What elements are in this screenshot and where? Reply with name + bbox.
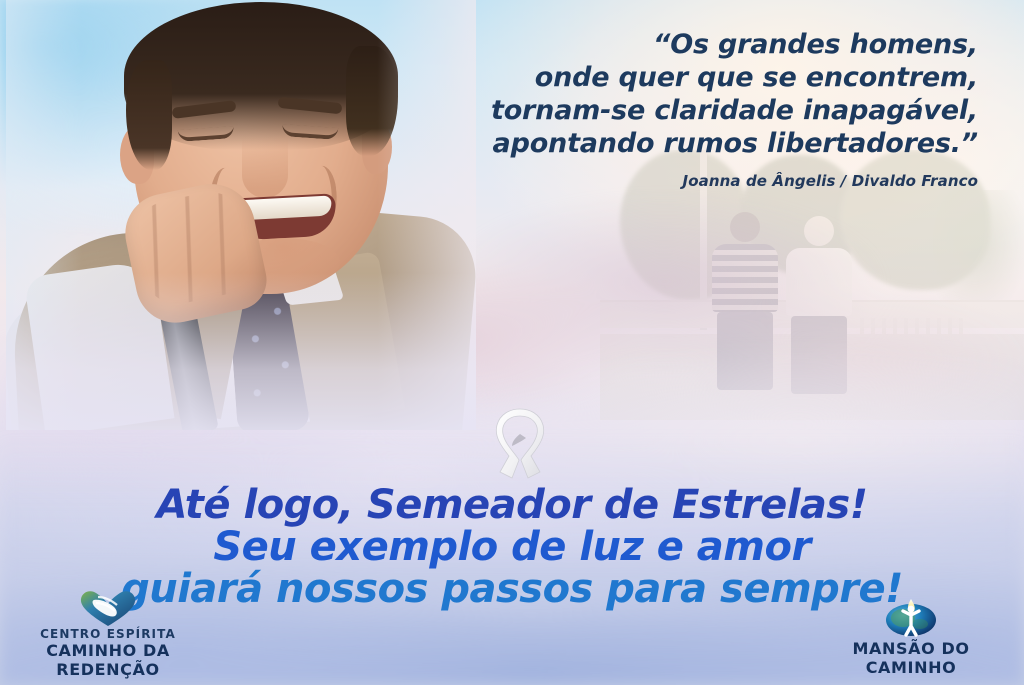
logo-centro-espirita-caminho-da-redencao[interactable]: CENTRO ESPÍRITA CAMINHO DA REDENÇÃO — [8, 589, 208, 679]
quote-block: “Os grandes homens, onde quer que se enc… — [418, 28, 978, 190]
quote-line-1: “Os grandes homens, — [418, 28, 978, 61]
portrait-fade-overlay — [6, 0, 476, 430]
quote-line-3: tornam-se claridade inapagável, — [418, 94, 978, 127]
logo-mansao-do-caminho[interactable]: MANSÃO DO CAMINHO — [806, 593, 1016, 677]
headline-line-1: Até logo, Semeador de Estrelas! — [0, 484, 1024, 526]
heart-hands-icon — [78, 589, 138, 627]
logo-left-line-1: CENTRO ESPÍRITA — [8, 627, 208, 641]
white-ribbon-icon — [488, 408, 552, 486]
logo-left-line-2: CAMINHO DA REDENÇÃO — [8, 641, 208, 679]
quote-line-2: onde quer que se encontrem, — [418, 61, 978, 94]
headline-line-2: Seu exemplo de luz e amor — [0, 526, 1024, 568]
logo-right-line-1: MANSÃO DO CAMINHO — [806, 639, 1016, 677]
memorial-poster: “Os grandes homens, onde quer que se enc… — [0, 0, 1024, 685]
quote-line-4: apontando rumos libertadores.” — [418, 127, 978, 160]
quote-attribution: Joanna de Ângelis / Divaldo Franco — [418, 172, 978, 190]
portrait-divaldo-franco — [6, 0, 476, 430]
globe-figure-flame-icon — [884, 593, 938, 637]
